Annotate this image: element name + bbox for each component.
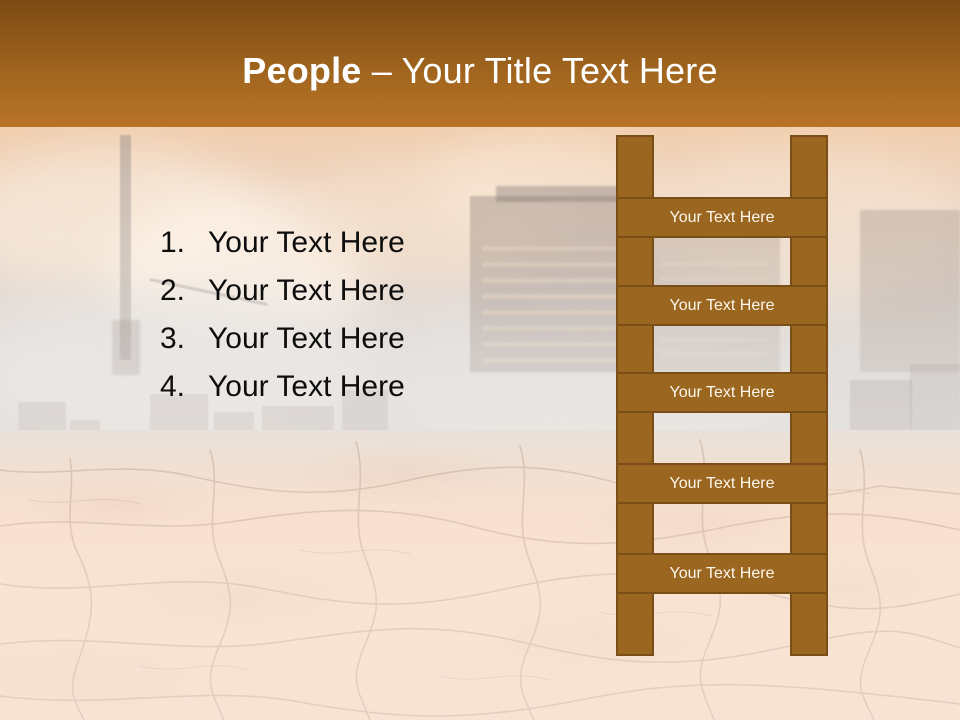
ladder-rung[interactable]: Your Text Here: [616, 197, 828, 238]
ladder-diagram: Your Text Here Your Text Here Your Text …: [616, 135, 828, 656]
ladder-rung[interactable]: Your Text Here: [616, 463, 828, 504]
list-item[interactable]: 1. Your Text Here: [160, 228, 500, 276]
list-item-number: 3.: [160, 324, 208, 354]
list-item-number: 1.: [160, 228, 208, 258]
ladder-rung[interactable]: Your Text Here: [616, 285, 828, 326]
ladder-rung-label: Your Text Here: [670, 476, 775, 492]
page-title-strong: People: [242, 50, 361, 91]
ladder-rung-label: Your Text Here: [670, 210, 775, 226]
list-item[interactable]: 2. Your Text Here: [160, 276, 500, 324]
list-item-label: Your Text Here: [208, 324, 405, 354]
list-item-label: Your Text Here: [208, 276, 405, 306]
numbered-list: 1. Your Text Here 2. Your Text Here 3. Y…: [160, 228, 500, 420]
title-bar: People – Your Title Text Here: [0, 0, 960, 127]
slide: People – Your Title Text Here 1. Your Te…: [0, 0, 960, 720]
page-title-rest: – Your Title Text Here: [362, 50, 718, 91]
ladder-rung-label: Your Text Here: [670, 566, 775, 582]
page-title: People – Your Title Text Here: [242, 39, 717, 89]
ladder-rung[interactable]: Your Text Here: [616, 553, 828, 594]
ladder-rung[interactable]: Your Text Here: [616, 372, 828, 413]
ladder-rung-label: Your Text Here: [670, 385, 775, 401]
list-item-label: Your Text Here: [208, 228, 405, 258]
list-item-label: Your Text Here: [208, 372, 405, 402]
industrial-building-roof: [496, 186, 626, 202]
list-item-number: 2.: [160, 276, 208, 306]
list-item[interactable]: 3. Your Text Here: [160, 324, 500, 372]
ladder-rung-label: Your Text Here: [670, 298, 775, 314]
list-item-number: 4.: [160, 372, 208, 402]
list-item[interactable]: 4. Your Text Here: [160, 372, 500, 420]
